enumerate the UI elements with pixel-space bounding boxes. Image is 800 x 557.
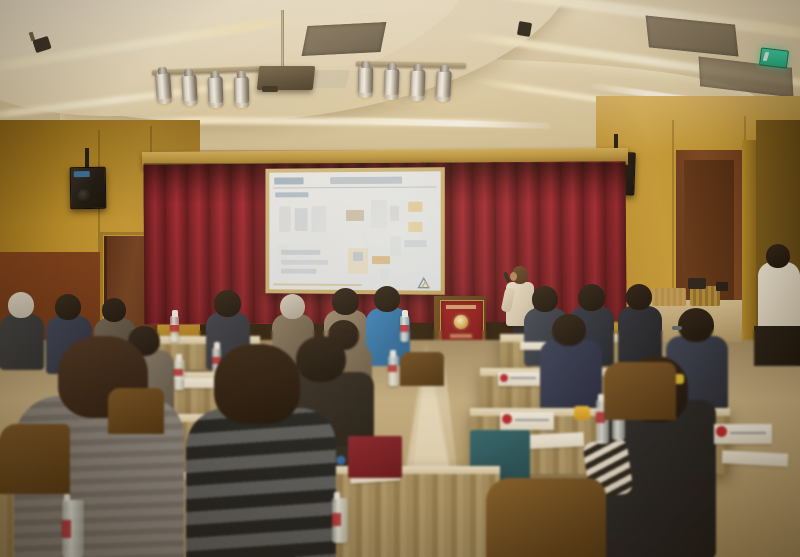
bottle-label: [170, 325, 179, 332]
bottle-label: [174, 369, 183, 376]
chair-back: [400, 352, 444, 386]
right-door-jamb: [742, 140, 756, 355]
attendee-head: [678, 308, 714, 342]
attendee-torso: [186, 408, 336, 557]
water-bottle: [170, 316, 179, 342]
slide-divider: [273, 186, 436, 188]
chair-back: [604, 362, 676, 420]
projector-lens-icon: [262, 86, 278, 92]
attendee-head: [578, 284, 605, 311]
speaker-badge: [74, 171, 90, 177]
spotlight-icon: [181, 74, 198, 105]
attendee-lower: [754, 326, 800, 366]
attendee-head: [296, 336, 346, 382]
bottle-label: [332, 513, 341, 526]
red-folder: [348, 436, 402, 478]
spotlight-icon: [234, 76, 250, 106]
attendee-torso: [0, 314, 44, 370]
slide-diagram-box: [404, 240, 426, 247]
attendee-head: [214, 290, 241, 317]
slide-footer-bar: [273, 283, 362, 286]
chair-back: [108, 388, 164, 434]
spotlight-icon: [435, 70, 452, 101]
slide-logo-icon: [416, 276, 434, 288]
name-card-logo-icon: [500, 374, 508, 382]
projection-screen: [265, 167, 444, 295]
ceiling-vent-panel: [302, 22, 387, 56]
slide-diagram-box: [372, 256, 390, 264]
slide-diagram-box: [380, 268, 389, 280]
speaker-mount-arm: [85, 148, 89, 168]
wall-speaker-icon: [70, 167, 107, 210]
storage-basket: [652, 288, 686, 306]
conference-room-photo: [0, 0, 800, 557]
name-card-logo-icon: [716, 426, 727, 437]
slide-subtitle-block: [275, 192, 308, 197]
attendee-head: [332, 288, 359, 315]
banner-subtitle-text: [450, 334, 472, 338]
presenter-face: [510, 272, 517, 281]
slide-diagram-box: [371, 200, 387, 228]
water-bottle: [62, 500, 84, 557]
name-card-text-line: [730, 432, 766, 434]
name-card-text-line: [510, 377, 536, 379]
glasses-icon: [672, 326, 682, 330]
attendee-head: [766, 244, 790, 268]
slide-text-line: [281, 269, 316, 274]
name-card: [498, 372, 540, 386]
chair-back: [486, 478, 606, 557]
ceiling-camera-icon: [517, 21, 532, 37]
slide-diagram-box: [346, 210, 364, 221]
slide-text-line: [281, 250, 320, 255]
slide-diagram-box: [390, 206, 399, 221]
yellow-cup: [574, 406, 590, 420]
slide-diagram-box: [353, 252, 363, 261]
name-card: [500, 412, 554, 430]
slide-text-line: [281, 260, 328, 265]
attendee-head: [552, 314, 586, 346]
spotlight-icon: [207, 76, 223, 107]
projection-screen-surface: [269, 171, 440, 290]
attendee-head: [55, 294, 81, 320]
spotlight-icon: [155, 72, 172, 103]
table-skirt: [330, 474, 500, 557]
attendee-torso: [540, 340, 602, 412]
slide-diagram-box: [390, 236, 401, 256]
water-bottle: [400, 316, 409, 342]
slide-diagram-box: [408, 202, 422, 212]
attendee-torso: [758, 262, 800, 332]
spotlight-icon: [409, 69, 425, 100]
attendee-head: [8, 292, 34, 318]
banner-emblem-icon: [454, 315, 468, 329]
slide-diagram-box: [295, 208, 308, 231]
attendee-head: [214, 344, 300, 424]
slide-diagram-box: [311, 206, 326, 232]
name-card-text-line: [515, 419, 549, 421]
banner-title-text: [446, 305, 476, 309]
bottle-label: [62, 520, 71, 538]
attendee-head: [102, 298, 126, 322]
attendee-head: [374, 286, 400, 312]
speaker-cone-icon: [77, 189, 91, 203]
name-card-logo-icon: [502, 414, 512, 424]
spotlight-icon: [383, 68, 399, 99]
slide-diagram-box: [408, 222, 422, 232]
slide-title-block: [330, 177, 402, 185]
attendee-head: [532, 286, 558, 312]
slide-diagram-box: [279, 206, 291, 232]
attendee-head: [280, 294, 305, 319]
slide-header-block: [274, 177, 303, 184]
attendee-head: [626, 284, 652, 310]
chair-back: [0, 424, 70, 494]
spotlight-icon: [358, 66, 374, 96]
av-equipment: [688, 278, 706, 289]
water-bottle: [388, 356, 399, 386]
water-bottle: [332, 498, 348, 543]
name-card: [714, 424, 772, 444]
bottle-label: [400, 325, 409, 332]
av-equipment: [716, 282, 728, 291]
bottle-label: [388, 365, 397, 372]
projector-mount-rod: [281, 10, 284, 68]
